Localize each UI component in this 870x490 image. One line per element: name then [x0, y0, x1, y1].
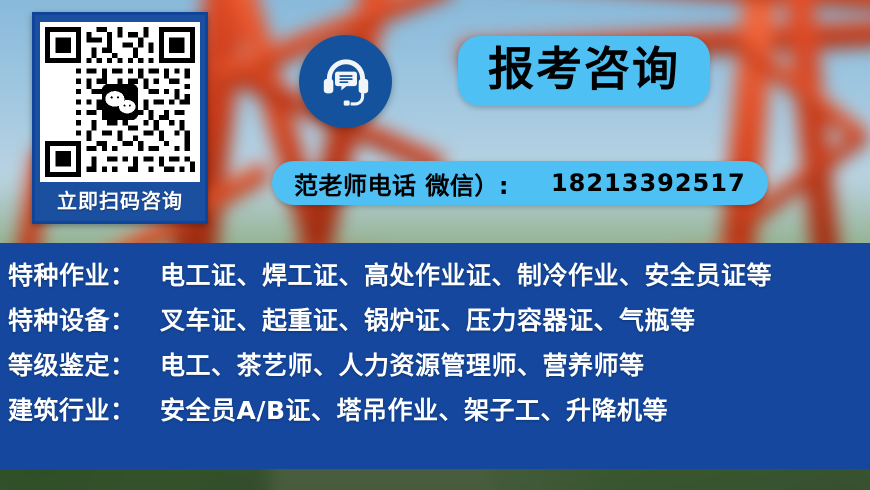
category-label: 特种设备： — [8, 301, 160, 337]
category-items: 电工、茶艺师、人力资源管理师、营养师等 — [160, 346, 870, 382]
category-label: 建筑行业： — [8, 391, 160, 427]
qr-card-caption: 立即扫码咨询 — [57, 191, 183, 211]
contact-label: 范老师电话 微信）: — [294, 166, 509, 201]
category-items: 电工证、焊工证、高处作业证、制冷作业、安全员证等 — [160, 256, 870, 292]
headset-support-badge[interactable] — [299, 35, 392, 128]
category-label: 特种作业： — [8, 256, 160, 292]
contact-phone-number[interactable]: 18213392517 — [551, 169, 746, 197]
category-row: 等级鉴定： 电工、茶艺师、人力资源管理师、营养师等 — [8, 346, 870, 391]
page-title: 报考咨询 — [458, 36, 710, 106]
contact-pill[interactable]: 范老师电话 微信）: 18213392517 — [272, 161, 768, 205]
category-row: 特种设备： 叉车证、起重证、锅炉证、压力容器证、气瓶等 — [8, 301, 870, 346]
qr-code-icon[interactable] — [40, 22, 200, 182]
category-items: 叉车证、起重证、锅炉证、压力容器证、气瓶等 — [160, 301, 870, 337]
headset-support-icon — [317, 53, 375, 111]
category-label: 等级鉴定： — [8, 346, 160, 382]
qr-code-card[interactable]: 立即扫码咨询 — [32, 12, 208, 224]
promo-poster: 立即扫码咨询 报考咨询 — [0, 0, 870, 490]
category-items: 安全员A/B证、塔吊作业、架子工、升降机等 — [160, 391, 870, 427]
category-row: 特种作业： 电工证、焊工证、高处作业证、制冷作业、安全员证等 — [8, 256, 870, 301]
course-categories-panel: 特种作业： 电工证、焊工证、高处作业证、制冷作业、安全员证等 特种设备： 叉车证… — [0, 243, 870, 469]
category-row: 建筑行业： 安全员A/B证、塔吊作业、架子工、升降机等 — [8, 391, 870, 436]
